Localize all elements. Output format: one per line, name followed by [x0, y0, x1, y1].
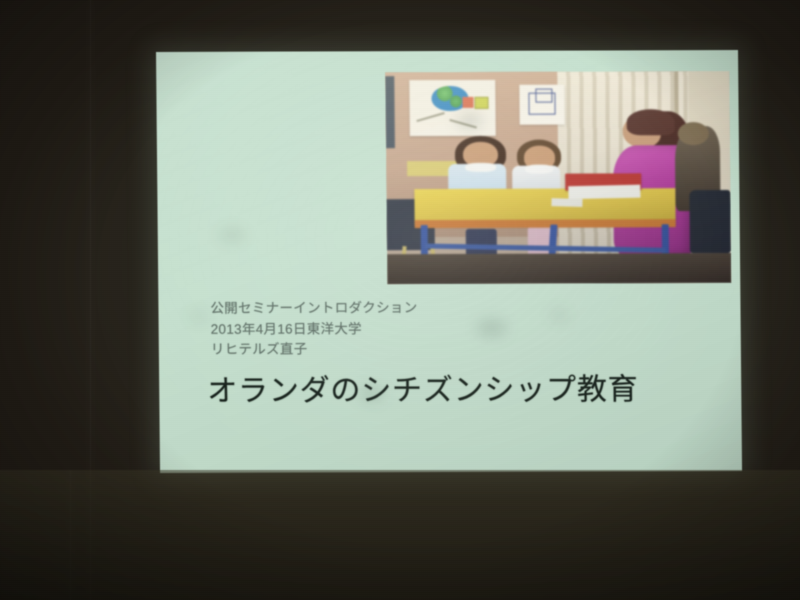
slide-title: オランダのシチズンシップ教育 — [207, 372, 681, 410]
child-right-collar — [525, 165, 553, 174]
wall-seam-left — [90, 0, 91, 600]
surface-smudge-4 — [218, 227, 246, 244]
photo-floor — [387, 253, 731, 284]
subtitle-line-3: リヒテルズ直子 — [211, 338, 681, 360]
dark-room-background: 公開セミナーイントロダクション 2013年4月16日東洋大学 リヒテルズ直子 オ… — [0, 0, 800, 600]
adult-hair-top — [626, 109, 674, 135]
slide-photo — [385, 71, 731, 284]
room-floor-shadow — [0, 470, 800, 600]
small-paper — [551, 198, 582, 207]
chair-right — [689, 190, 731, 254]
white-paper — [569, 185, 642, 199]
classroom-table-edge — [414, 220, 676, 228]
slide-text-block: 公開セミナーイントロダクション 2013年4月16日東洋大学 リヒテルズ直子 オ… — [210, 297, 681, 409]
wall-seam-lower — [70, 470, 71, 600]
subtitle-line-2: 2013年4月16日東洋大学 — [211, 318, 681, 340]
subtitle-line-1: 公開セミナーイントロダクション — [210, 297, 680, 319]
projected-slide: 公開セミナーイントロダクション 2013年4月16日東洋大学 リヒテルズ直子 オ… — [156, 50, 742, 473]
surface-smudge-5 — [188, 310, 208, 323]
